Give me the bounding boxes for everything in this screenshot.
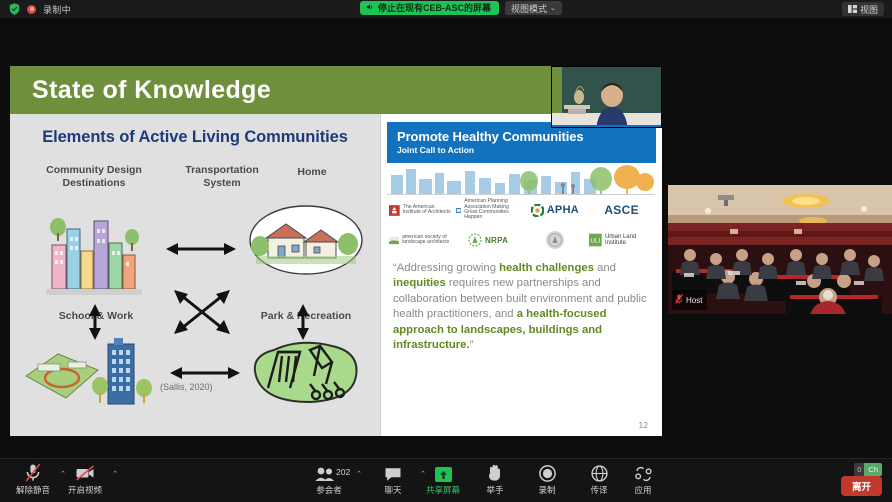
- chevron-up-icon[interactable]: ⌃: [356, 470, 362, 478]
- diagram-heading: Elements of Active Living Communities: [18, 128, 372, 147]
- asla-logo: american society of landscape architects: [389, 227, 454, 253]
- channel-badge-left: 0: [854, 463, 864, 476]
- promote-header: Promote Healthy Communities Joint Call t…: [387, 122, 656, 163]
- promote-healthy-communities-panel: Promote Healthy Communities Joint Call t…: [380, 114, 662, 436]
- apps-icon: [635, 463, 652, 482]
- asce-logo-text: ASCE: [604, 203, 639, 217]
- record-circle-icon: [539, 463, 556, 482]
- label-community-design: Community Design Destinations: [28, 164, 160, 190]
- raise-hand-label: 举手: [486, 484, 503, 496]
- top-bar: 录制中 停止在现有CEB-ASC的屏幕 视图模式 ⌄: [0, 0, 892, 18]
- record-button[interactable]: 录制: [518, 463, 576, 496]
- skyline-illustration: [387, 165, 656, 195]
- quote-seg-4: ”: [470, 339, 474, 351]
- meeting-toolbar: 解除静音 ⌃ 开启视频 ⌃: [0, 458, 892, 502]
- start-video-label: 开启视频: [68, 484, 102, 496]
- layout-grid-icon: [848, 5, 857, 13]
- microphone-muted-icon: [675, 291, 683, 309]
- view-layout-label: 视图: [860, 3, 878, 16]
- gallery-video-tile[interactable]: Host: [668, 185, 892, 314]
- nrpa-logo-text: NRPA: [485, 236, 508, 245]
- aia-logo: The American Institute of Architects: [389, 197, 454, 223]
- aia-logo-text: The American Institute of Architects: [403, 205, 454, 216]
- school-work-illustration: [24, 336, 164, 410]
- chat-bubble-icon: [384, 463, 402, 482]
- raise-hand-icon: [487, 463, 503, 482]
- interpretation-label: 传译: [590, 484, 607, 496]
- record-label: 录制: [538, 484, 555, 496]
- arrow-city-down: [88, 304, 102, 340]
- speaker-icon: [366, 3, 374, 13]
- view-layout-button[interactable]: 视图: [842, 2, 884, 16]
- recording-label: 录制中: [43, 3, 71, 16]
- share-screen-label: 共享屏幕: [426, 484, 460, 496]
- apps-button[interactable]: 应用: [614, 463, 672, 496]
- apha-logo-text: APHA: [547, 204, 579, 216]
- asla-logo-text: american society of landscape architects: [402, 235, 454, 246]
- seal-logo: [523, 227, 588, 253]
- microphone-muted-icon: [25, 463, 41, 482]
- arrow-cross-diagonals: [170, 284, 234, 345]
- apa-logo: American Planning Association Making Gre…: [456, 197, 521, 223]
- top-bar-center: 停止在现有CEB-ASC的屏幕 视图模式 ⌄: [360, 1, 562, 15]
- quote-seg-2: and: [594, 262, 616, 274]
- leave-meeting-button[interactable]: 离开: [841, 476, 882, 496]
- arrow-city-to-home: [166, 242, 236, 256]
- host-label: Host: [686, 296, 702, 305]
- partner-logos: The American Institute of Architects Ame…: [389, 197, 654, 253]
- park-recreation-illustration: [248, 332, 366, 410]
- host-badge: Host: [672, 290, 707, 310]
- apha-logo: APHA: [523, 197, 588, 223]
- view-mode-label: 视图模式: [511, 2, 547, 15]
- quote-seg-1: “Addressing growing: [393, 262, 499, 274]
- active-living-diagram-panel: Elements of Active Living Communities Co…: [10, 114, 380, 436]
- start-video-button[interactable]: 开启视频 ⌃: [56, 463, 114, 496]
- speaker-video-tile[interactable]: [551, 66, 662, 128]
- share-screen-icon: [435, 463, 452, 482]
- view-mode-dropdown[interactable]: 视图模式 ⌄: [505, 1, 562, 15]
- home-illustration: [248, 202, 364, 278]
- arrow-school-to-park: [170, 366, 240, 380]
- chat-label: 聊天: [384, 484, 401, 496]
- shield-check-icon[interactable]: [9, 3, 20, 15]
- participants-button[interactable]: 参会者 202 ⌃: [300, 463, 358, 496]
- unmute-label: 解除静音: [16, 484, 50, 496]
- stop-share-button[interactable]: 停止在现有CEB-ASC的屏幕: [360, 1, 499, 15]
- svg-text:ULI: ULI: [591, 238, 601, 245]
- stop-share-label: 停止在现有CEB-ASC的屏幕: [378, 1, 491, 14]
- asce-logo: ASCE: [589, 197, 654, 223]
- channel-badge-right: Ch: [864, 463, 882, 476]
- raise-hand-button[interactable]: 举手: [466, 463, 524, 496]
- slide-body: Elements of Active Living Communities Co…: [10, 114, 662, 436]
- community-design-illustration: [46, 199, 142, 299]
- slide-title: State of Knowledge: [32, 76, 271, 105]
- chevron-down-icon: ⌄: [550, 4, 556, 12]
- label-home: Home: [272, 166, 352, 179]
- zoom-meeting-window: 录制中 停止在现有CEB-ASC的屏幕 视图模式 ⌄: [0, 0, 892, 502]
- channel-badge[interactable]: 0 Ch: [854, 463, 882, 476]
- participants-label: 参会者: [316, 484, 342, 496]
- promote-subtitle: Joint Call to Action: [397, 145, 646, 155]
- arrow-home-down: [296, 304, 310, 340]
- recording-indicator-icon[interactable]: [27, 5, 36, 14]
- diagram-citation: (Sallis, 2020): [160, 382, 213, 392]
- top-bar-left: 录制中: [0, 3, 71, 16]
- apps-label: 应用: [634, 484, 651, 496]
- unmute-button[interactable]: 解除静音 ⌃: [4, 463, 62, 496]
- slide-page-number: 12: [639, 420, 648, 430]
- label-transportation-system: Transportation System: [166, 164, 278, 190]
- uli-logo: ULI Urban Land Institute: [589, 227, 654, 253]
- promote-title: Promote Healthy Communities: [397, 129, 646, 144]
- participants-count: 202: [336, 467, 350, 477]
- quote-highlight-1: health challenges: [499, 262, 594, 274]
- nrpa-logo: NRPA: [456, 227, 521, 253]
- video-off-icon: [75, 463, 95, 482]
- share-screen-button[interactable]: 共享屏幕: [414, 463, 472, 496]
- chevron-up-icon[interactable]: ⌃: [112, 470, 118, 478]
- uli-logo-text: Urban Land Institute: [605, 234, 654, 247]
- quote-highlight-2: inequities: [393, 277, 446, 289]
- joint-call-quote: “Addressing growing health challenges an…: [393, 261, 650, 354]
- apa-logo-text: American Planning Association Making Gre…: [464, 199, 520, 221]
- globe-icon: [591, 463, 608, 482]
